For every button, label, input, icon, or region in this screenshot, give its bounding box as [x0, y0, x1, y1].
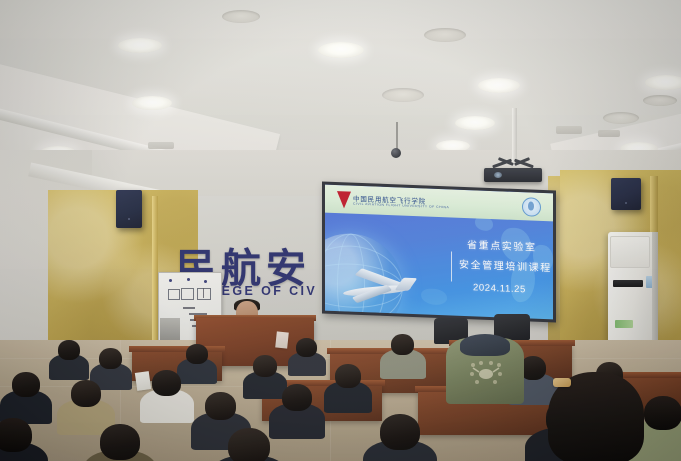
lecture-hall-photo: 民航安 COLLEGE OF CIV: [0, 0, 681, 461]
attendee-head: [58, 340, 80, 360]
attendee-head: [380, 414, 420, 450]
attendee-head: [152, 370, 181, 396]
attendee-head: [391, 334, 414, 355]
attendee-head: [186, 344, 208, 364]
attendee-head: [282, 384, 312, 411]
jacket-skull-graphic-icon: [468, 360, 504, 386]
jacket-hood: [460, 334, 510, 356]
attendee-green-jacket: [446, 338, 524, 404]
hair-clip: [553, 378, 571, 387]
attendee-long-hair: [548, 372, 644, 461]
jacket-graphic-print: [468, 360, 504, 386]
attendee-head: [99, 348, 122, 369]
attendee-head: [12, 372, 40, 397]
handout-paper: [275, 331, 289, 348]
attendee-head: [644, 396, 681, 430]
attendee-head: [71, 380, 101, 407]
attendee-head: [100, 424, 140, 460]
attendee-head: [228, 428, 270, 461]
attendee-head: [296, 338, 317, 357]
attendee-head: [0, 418, 32, 452]
handout-paper: [135, 371, 151, 391]
attendee-head: [253, 355, 277, 377]
attendee-head: [205, 392, 236, 420]
attendee-head: [335, 364, 361, 388]
